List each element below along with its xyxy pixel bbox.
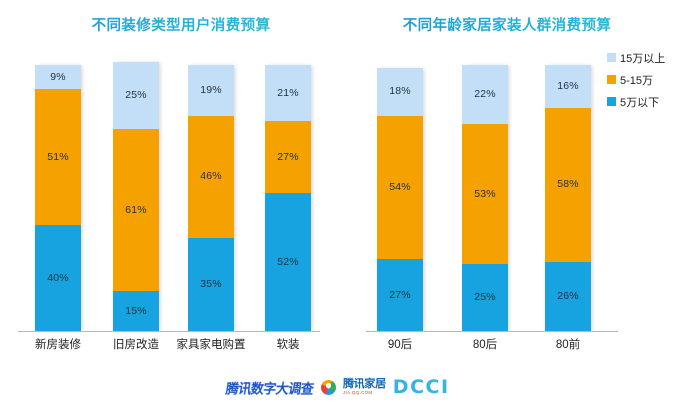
survey-logo: 腾讯数字大调查 <box>225 377 315 397</box>
bar-value-label: 21% <box>277 88 299 99</box>
bar-segment-mid: 53% <box>462 124 508 265</box>
chart-title-left: 不同装修类型用户消费预算 <box>0 14 350 35</box>
bar-segment-low: 26% <box>545 262 591 331</box>
bar-value-label: 25% <box>474 292 496 303</box>
bar-value-label: 9% <box>50 72 66 83</box>
bar-value-label: 51% <box>47 152 69 163</box>
bar-value-label: 46% <box>200 171 222 182</box>
legend-label-mid: 5-15万 <box>620 72 653 88</box>
bar-left-4: 21%27%52% <box>265 65 311 331</box>
bar-segment-high: 16% <box>545 65 591 108</box>
bar-right-3: 16%58%26% <box>545 65 591 331</box>
bar-segment-low: 25% <box>462 264 508 331</box>
bar-left-2: 25%61%15% <box>113 62 159 331</box>
bar-segment-low: 40% <box>35 225 81 331</box>
bar-segment-mid: 46% <box>188 116 234 238</box>
bar-value-label: 19% <box>200 85 222 96</box>
x-axis-line-left <box>18 331 320 332</box>
bar-segment-high: 19% <box>188 65 234 116</box>
category-label-right-1: 90后 <box>388 336 412 352</box>
legend-item-low[interactable]: 5万以下 <box>607 92 676 111</box>
bar-segment-mid: 54% <box>377 116 423 260</box>
bar-value-label: 22% <box>474 89 496 100</box>
bar-value-label: 61% <box>125 205 147 216</box>
bars-left: 9%51%40%25%61%15%19%46%35%21%27%52% <box>0 60 338 331</box>
dcci-logo: DCCI <box>393 376 450 398</box>
legend-label-high: 15万以上 <box>620 50 665 66</box>
category-labels-left: 新房装修旧房改造家具家电购置软装 <box>0 336 338 360</box>
bar-segment-mid: 61% <box>113 129 159 291</box>
bar-value-label: 27% <box>389 290 411 301</box>
x-axis-line-right <box>366 331 618 332</box>
tencent-jiaju-logo: 腾讯家居 JIA.QQ.COM <box>343 379 386 396</box>
bar-value-label: 53% <box>474 189 496 200</box>
bar-value-label: 35% <box>200 279 222 290</box>
category-label-right-3: 80前 <box>556 336 580 352</box>
bar-segment-low: 27% <box>377 259 423 331</box>
category-label-left-4: 软装 <box>277 336 300 352</box>
bar-value-label: 54% <box>389 182 411 193</box>
bar-right-1: 18%54%27% <box>377 68 423 331</box>
tencent-circle-icon <box>321 380 336 395</box>
bar-value-label: 58% <box>557 179 579 190</box>
bar-value-label: 40% <box>47 273 69 284</box>
bar-value-label: 15% <box>125 306 147 317</box>
bar-segment-high: 18% <box>377 68 423 116</box>
bar-segment-high: 22% <box>462 65 508 124</box>
legend-item-high[interactable]: 15万以上 <box>607 48 676 67</box>
bar-right-2: 22%53%25% <box>462 65 508 331</box>
bar-segment-mid: 27% <box>265 121 311 193</box>
bar-value-label: 26% <box>557 291 579 302</box>
bar-value-label: 25% <box>125 90 147 101</box>
bar-segment-mid: 58% <box>545 108 591 262</box>
chart-title-right: 不同年龄家居家装人群消费预算 <box>338 14 676 35</box>
bar-value-label: 16% <box>557 81 579 92</box>
category-label-left-3: 家具家电购置 <box>177 336 246 352</box>
legend-swatch-high <box>607 53 616 62</box>
tencent-jiaju-url: JIA.QQ.COM <box>343 391 386 396</box>
footer-logos: 腾讯数字大调查 腾讯家居 JIA.QQ.COM DCCI <box>0 374 676 400</box>
bar-value-label: 52% <box>277 257 299 268</box>
chart-legend: 15万以上5-15万5万以下 <box>607 48 676 114</box>
category-labels-right: 90后80后80前 <box>338 336 676 360</box>
legend-swatch-low <box>607 97 616 106</box>
category-label-right-2: 80后 <box>473 336 497 352</box>
legend-swatch-mid <box>607 75 616 84</box>
chart-panel-decoration-type: 不同装修类型用户消费预算 9%51%40%25%61%15%19%46%35%2… <box>0 0 338 360</box>
bar-value-label: 18% <box>389 86 411 97</box>
bar-segment-low: 35% <box>188 238 234 331</box>
bar-value-label: 27% <box>277 152 299 163</box>
bar-segment-mid: 51% <box>35 89 81 225</box>
bar-segment-high: 9% <box>35 65 81 89</box>
legend-item-mid[interactable]: 5-15万 <box>607 70 676 89</box>
legend-label-low: 5万以下 <box>620 94 659 110</box>
bar-segment-high: 25% <box>113 62 159 128</box>
bar-segment-high: 21% <box>265 65 311 121</box>
bar-segment-low: 15% <box>113 291 159 331</box>
category-label-left-2: 旧房改造 <box>113 336 159 352</box>
plot-area-left: 9%51%40%25%61%15%19%46%35%21%27%52% <box>0 60 338 332</box>
tencent-jiaju-label: 腾讯家居 <box>343 379 386 390</box>
bar-segment-low: 52% <box>265 193 311 331</box>
category-label-left-1: 新房装修 <box>35 336 81 352</box>
bar-left-1: 9%51%40% <box>35 65 81 331</box>
bar-left-3: 19%46%35% <box>188 65 234 331</box>
